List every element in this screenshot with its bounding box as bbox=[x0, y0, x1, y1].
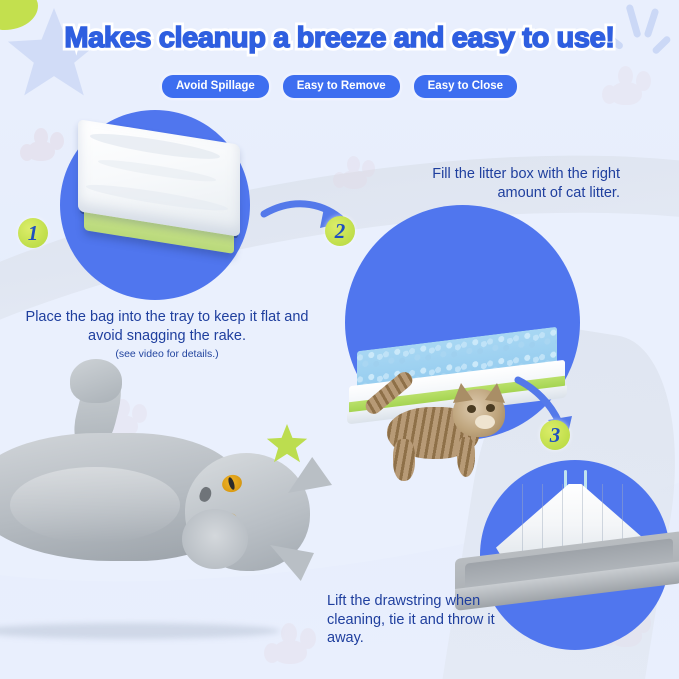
step-1-caption-text: Place the bag into the tray to keep it f… bbox=[26, 309, 309, 344]
step-1-subnote: (see video for details.) bbox=[22, 348, 312, 361]
step-3-caption: Lift the drawstring when cleaning, tie i… bbox=[327, 592, 517, 648]
hero-cat-image bbox=[0, 375, 340, 615]
step-1-number-badge: 1 bbox=[18, 218, 48, 248]
badge-easy-to-close[interactable]: Easy to Close bbox=[414, 75, 517, 98]
step-1-photo-circle bbox=[60, 110, 250, 300]
infographic-canvas: Makes cleanup a breeze and easy to use! … bbox=[0, 0, 679, 679]
green-star-decoration-icon bbox=[266, 424, 308, 466]
badge-avoid-spillage[interactable]: Avoid Spillage bbox=[162, 75, 269, 98]
page-title: Makes cleanup a breeze and easy to use! … bbox=[0, 22, 679, 62]
step-2-caption: Fill the litter box with the right amoun… bbox=[400, 165, 620, 202]
badge-easy-to-remove[interactable]: Easy to Remove bbox=[283, 75, 400, 98]
paw-print-icon bbox=[18, 120, 64, 164]
paw-print-icon bbox=[332, 150, 376, 192]
paw-print-icon bbox=[262, 615, 318, 667]
step-2-number-badge: 2 bbox=[325, 216, 355, 246]
step-1-caption: Place the bag into the tray to keep it f… bbox=[22, 308, 312, 362]
step-3-number-badge: 3 bbox=[540, 420, 570, 450]
feature-badge-row: Avoid Spillage Easy to Remove Easy to Cl… bbox=[0, 75, 679, 98]
page-title-text: Makes cleanup a breeze and easy to use! bbox=[0, 22, 679, 55]
step-1-product-image bbox=[78, 132, 243, 252]
